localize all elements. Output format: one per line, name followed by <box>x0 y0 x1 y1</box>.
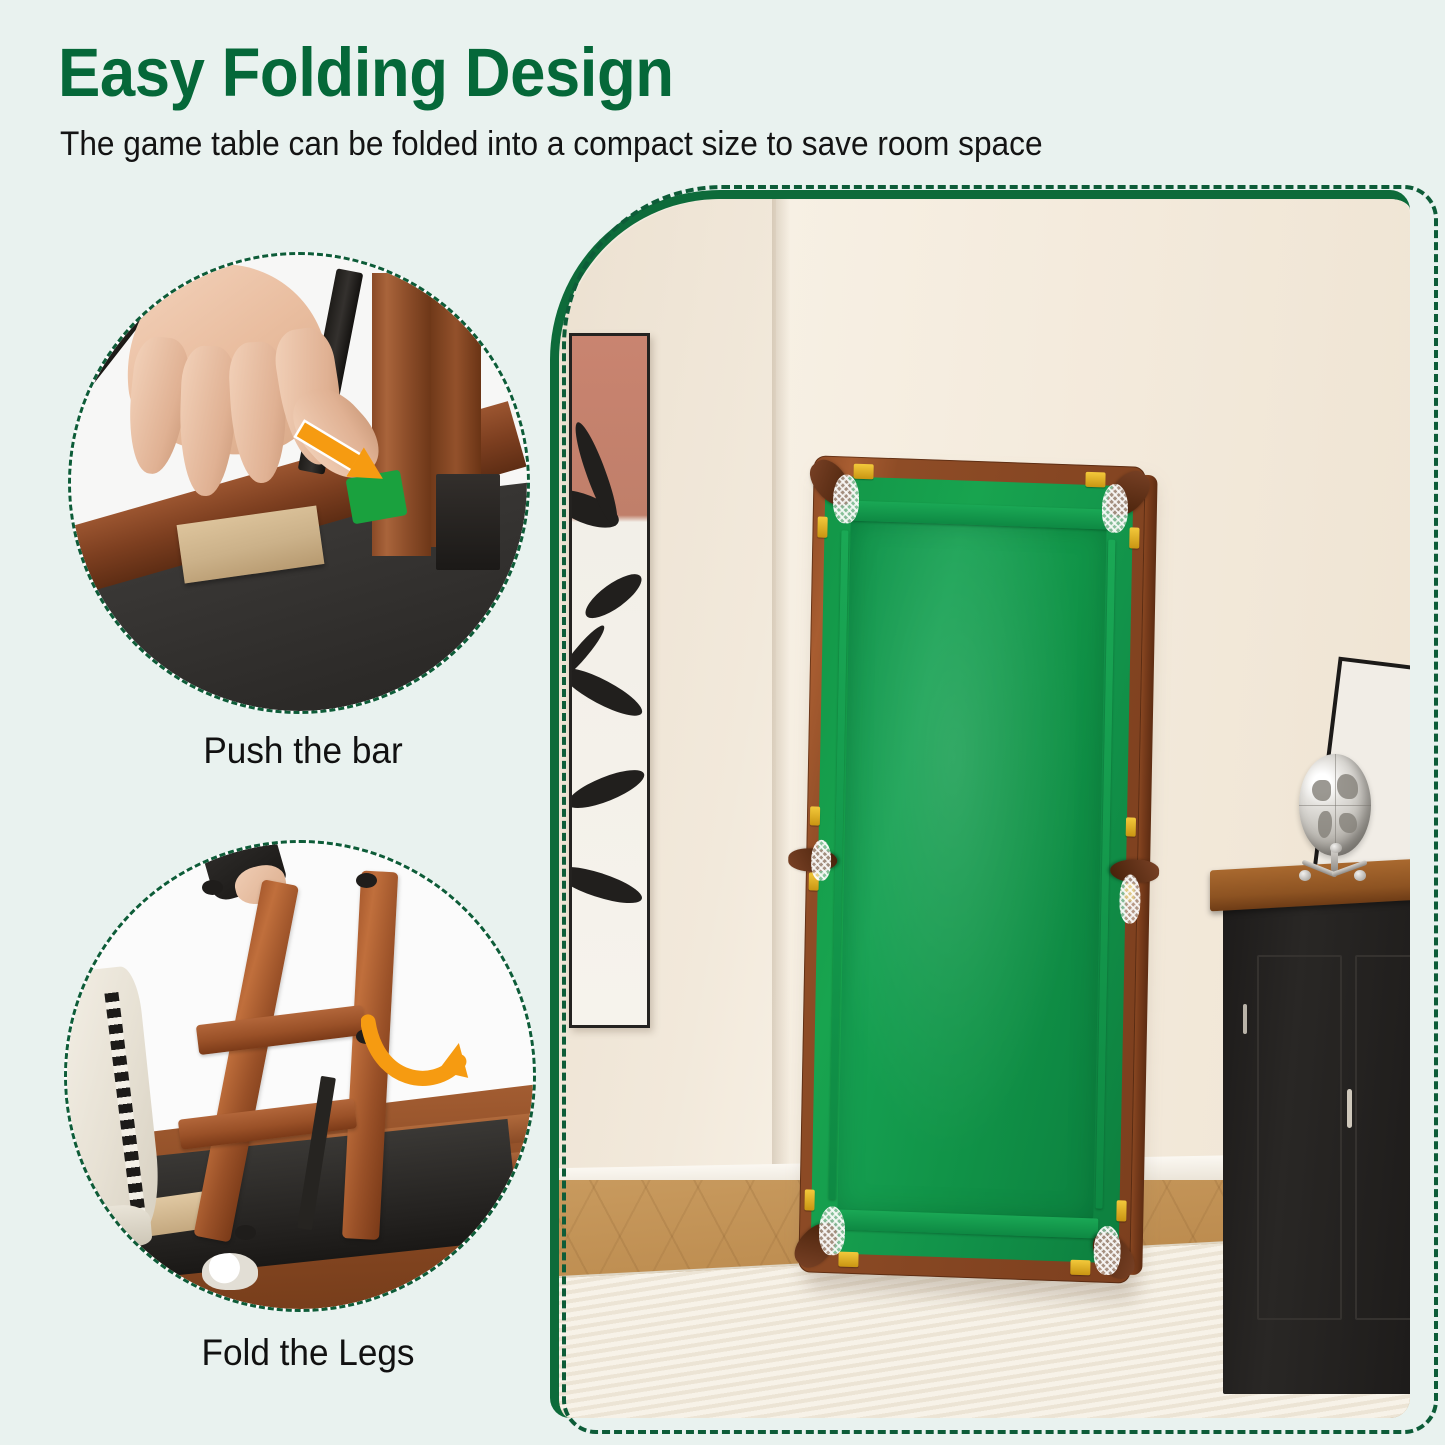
table-wood-frame <box>798 455 1145 1283</box>
folded-table-in-room-photo <box>559 199 1410 1418</box>
pool-table <box>798 455 1145 1283</box>
table-foot-bracket <box>436 474 500 570</box>
brass-plate <box>1116 1201 1126 1223</box>
brass-plate <box>1126 818 1136 837</box>
brass-plate <box>809 807 819 826</box>
step-1-block: Push the bar <box>68 252 538 792</box>
globe-stand <box>1312 848 1358 889</box>
page-subtitle: The game table can be folded into a comp… <box>60 125 1043 164</box>
brass-plate <box>1085 471 1105 487</box>
main-photo-frame <box>550 190 1410 1418</box>
brass-plate <box>838 1251 858 1267</box>
curved-orange-arrow-icon <box>361 1001 478 1104</box>
brass-plate <box>804 1190 814 1212</box>
globe-decor <box>1299 754 1370 856</box>
pocket-net <box>811 839 832 881</box>
corner-pocket-net <box>202 1253 258 1290</box>
brass-plate <box>1070 1259 1090 1275</box>
cabinet-door <box>1355 955 1410 1321</box>
fold-the-legs-image <box>67 843 533 1309</box>
brass-plate <box>853 463 873 479</box>
step-1-caption: Push the bar <box>80 730 527 772</box>
push-the-bar-photo <box>68 252 530 714</box>
cabinet-handle <box>1347 1089 1352 1128</box>
pocket-net <box>1093 1225 1120 1275</box>
brass-plate <box>817 517 827 539</box>
fold-the-legs-photo <box>64 840 536 1312</box>
wall-art <box>569 333 650 1028</box>
page-title: Easy Folding Design <box>58 33 674 112</box>
pocket-net <box>1118 875 1140 925</box>
cabinet-door <box>1257 955 1342 1321</box>
table-rail <box>810 475 1133 1263</box>
pocket-net <box>818 1206 845 1256</box>
table-felt-bed <box>837 519 1106 1220</box>
push-the-bar-image <box>71 255 527 711</box>
step-2-block: Fold the Legs <box>58 840 558 1400</box>
brass-plate <box>1129 528 1139 550</box>
leg-cap-icon <box>356 873 377 888</box>
wall-corner-shadow <box>772 199 791 1186</box>
step-2-caption: Fold the Legs <box>71 1332 546 1374</box>
pocket-net <box>1101 483 1128 533</box>
leg-bolt-icon <box>235 1225 256 1240</box>
cabinet-handle <box>1243 1004 1247 1034</box>
pocket-net <box>832 474 859 524</box>
header: Easy Folding Design The game table can b… <box>0 0 1445 180</box>
